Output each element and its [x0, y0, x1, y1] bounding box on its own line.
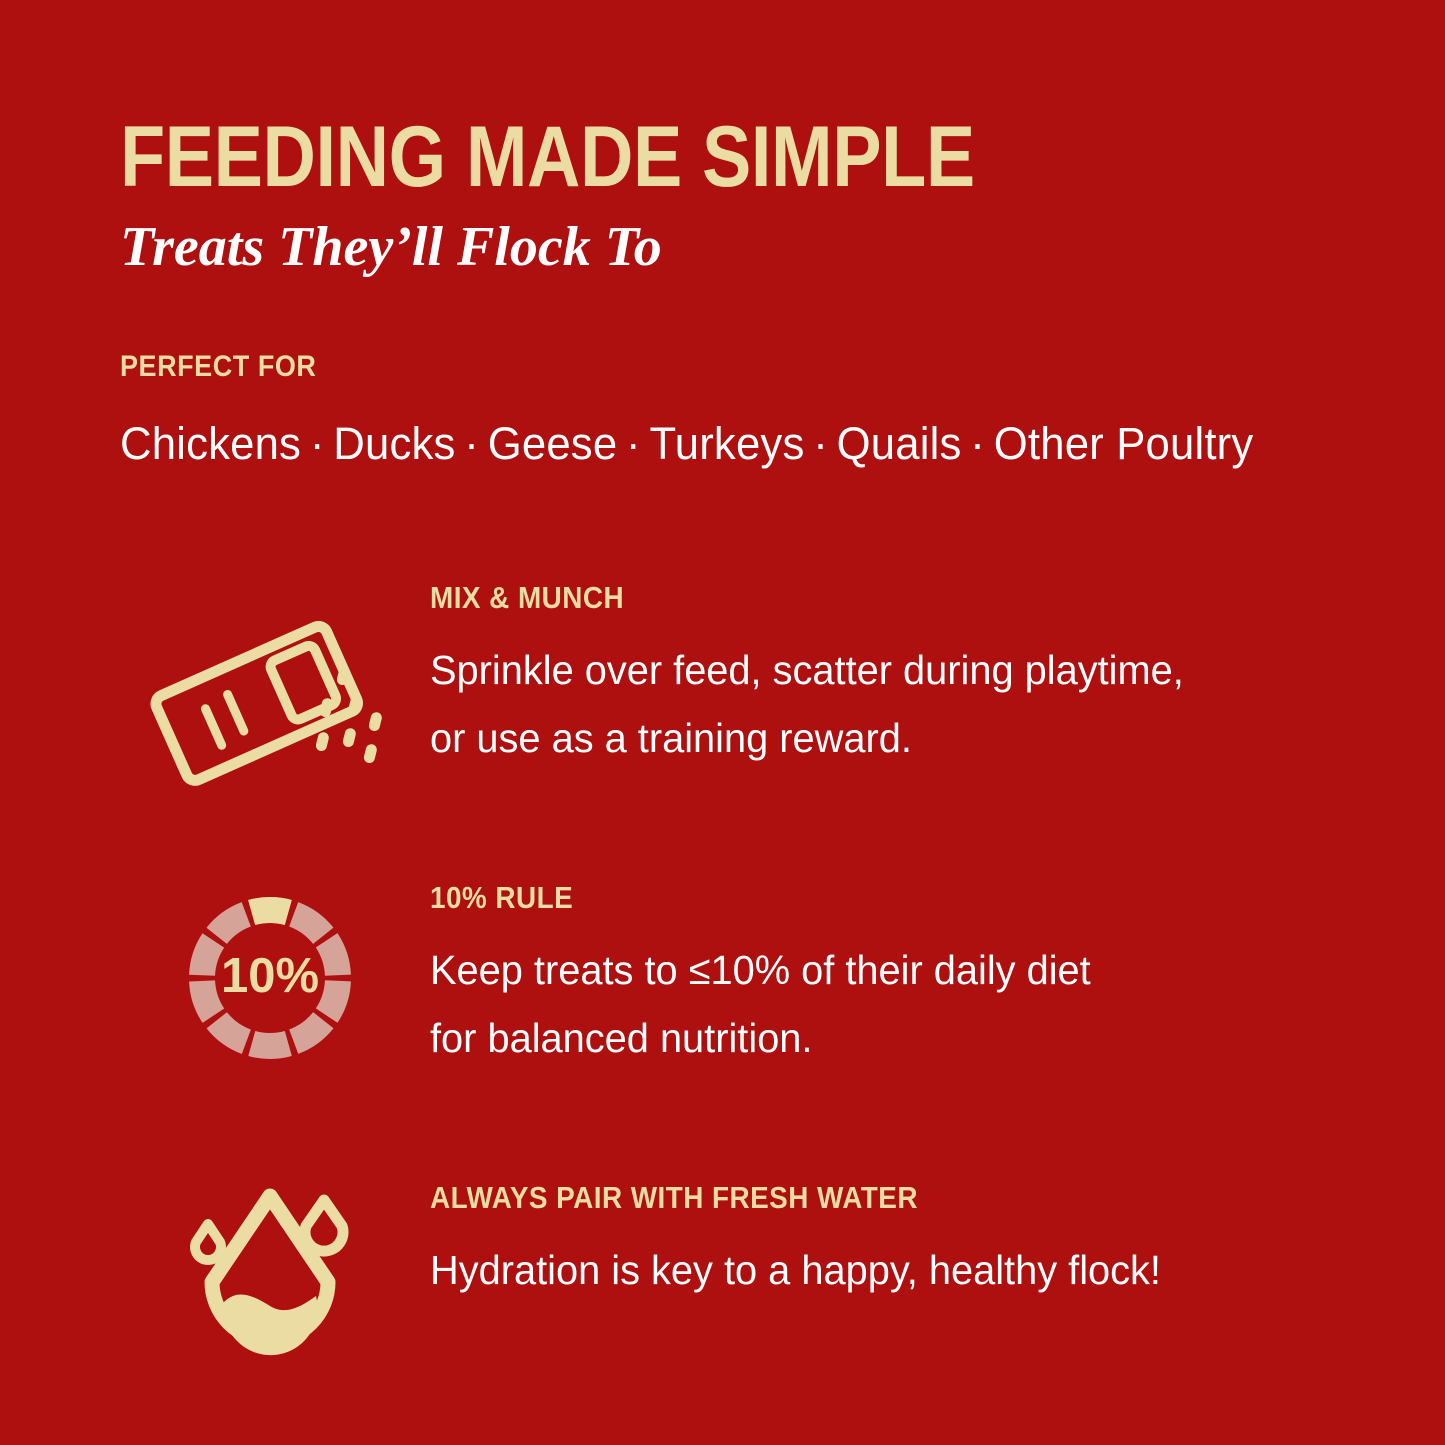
species-separator: · — [804, 418, 836, 469]
feature-body: MIX & MUNCH Sprinkle over feed, scatter … — [430, 578, 1410, 772]
page-subtitle: Treats They’ll Flock To — [120, 197, 1350, 275]
species-item-1: Ducks — [333, 418, 455, 469]
feature-text-line-2: or use as a training reward. — [430, 715, 912, 761]
species-list: Chickens·Ducks·Geese·Turkeys·Quails·Othe… — [120, 384, 1342, 470]
feature-body: 10% RULE Keep treats to ≤10% of their da… — [430, 878, 1410, 1072]
feature-body: ALWAYS PAIR WITH FRESH WATER Hydration i… — [430, 1178, 1410, 1304]
feature-title-fresh-water: ALWAYS PAIR WITH FRESH WATER — [430, 1180, 1312, 1216]
species-separator: · — [617, 418, 649, 469]
feature-row-fresh-water: ALWAYS PAIR WITH FRESH WATER Hydration i… — [110, 1178, 1410, 1378]
feature-row-mix-and-munch: MIX & MUNCH Sprinkle over feed, scatter … — [110, 578, 1410, 800]
feature-text-mix-and-munch: Sprinkle over feed, scatter during playt… — [430, 616, 1381, 772]
species-separator: · — [962, 418, 994, 469]
perfect-for-label: PERFECT FOR — [120, 350, 1254, 384]
feature-title-ten-percent-rule: 10% RULE — [430, 880, 1312, 916]
feature-text-line-1: Hydration is key to a happy, healthy flo… — [430, 1247, 1161, 1293]
donut-center-label: 10% — [221, 949, 319, 1003]
perfect-for-section: PERFECT FOR Chickens·Ducks·Geese·Turkeys… — [120, 350, 1380, 470]
species-item-2: Geese — [488, 418, 618, 469]
feature-text-line-1: Keep treats to ≤10% of their daily diet — [430, 947, 1091, 993]
water-droplet-icon — [110, 1178, 430, 1378]
feature-text-line-2: for balanced nutrition. — [430, 1015, 812, 1061]
species-item-0: Chickens — [120, 418, 301, 469]
header: FEEDING MADE SIMPLE Treats They’ll Flock… — [120, 118, 1350, 275]
page-title: FEEDING MADE SIMPLE — [120, 118, 1178, 197]
feature-text-line-1: Sprinkle over feed, scatter during playt… — [430, 647, 1184, 693]
species-item-4: Quails — [837, 418, 962, 469]
species-item-3: Turkeys — [649, 418, 804, 469]
feature-text-ten-percent-rule: Keep treats to ≤10% of their daily diet … — [430, 916, 1381, 1072]
ten-percent-donut-icon: 10% — [110, 878, 430, 1078]
feature-title-mix-and-munch: MIX & MUNCH — [430, 580, 1312, 616]
species-separator: · — [456, 418, 488, 469]
shaker-pouring-icon — [110, 578, 430, 800]
feature-text-fresh-water: Hydration is key to a happy, healthy flo… — [430, 1216, 1381, 1304]
infographic-page: FEEDING MADE SIMPLE Treats They’ll Flock… — [0, 0, 1445, 1445]
species-item-5: Other Poultry — [994, 418, 1254, 469]
feature-row-ten-percent-rule: 10% 10% RULE Keep treats to ≤10% of thei… — [110, 878, 1410, 1078]
species-separator: · — [301, 418, 333, 469]
